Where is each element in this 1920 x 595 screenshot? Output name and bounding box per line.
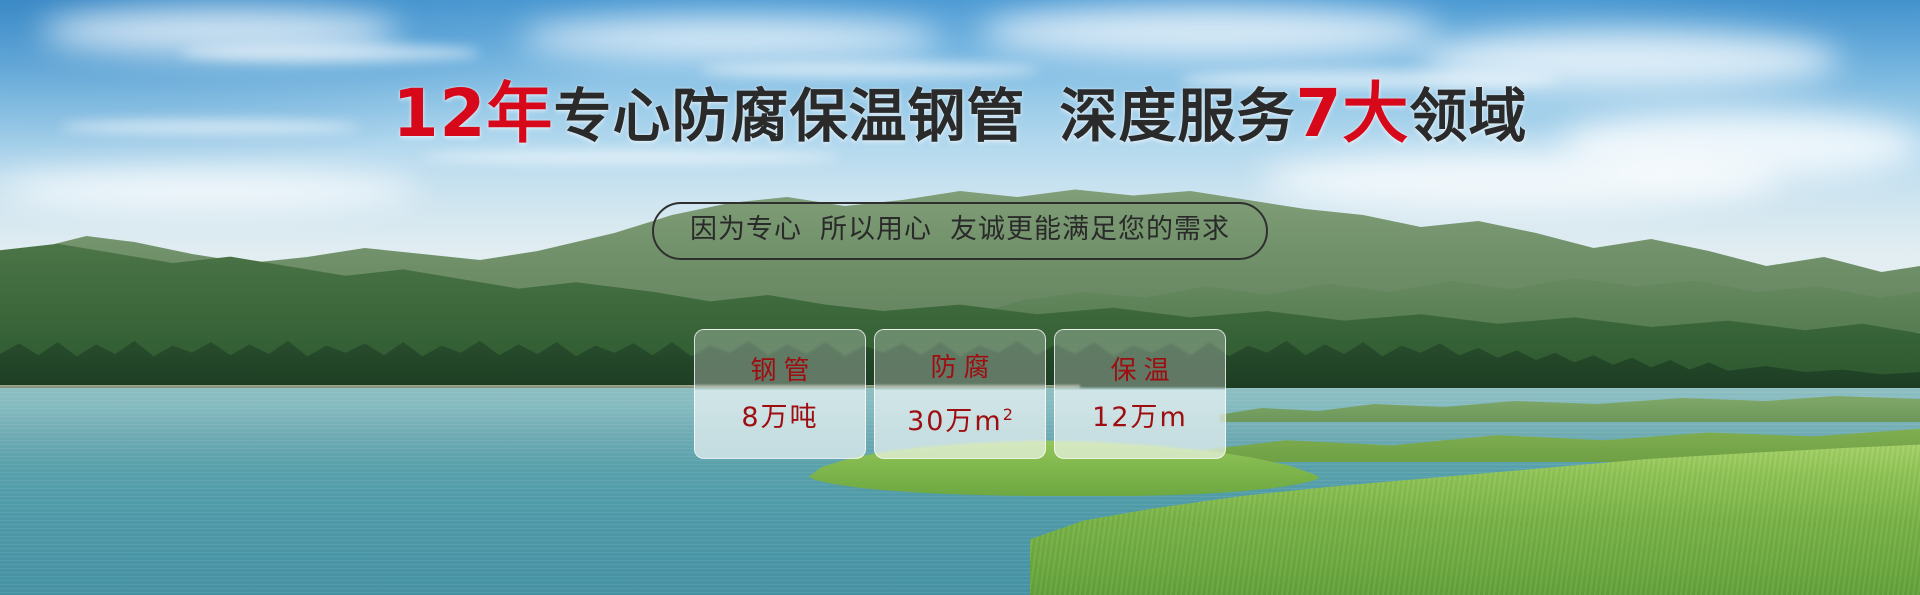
stat-card-value-main: 30万m	[907, 406, 1003, 437]
cloud-5	[980, 6, 1440, 58]
banner-headline: 12年专心防腐保温钢管深度服务7大领域	[0, 82, 1920, 148]
stat-card-label: 防腐	[923, 351, 996, 385]
stat-card-value-superscript: 2	[1003, 405, 1013, 424]
stat-card-group: 钢管 8万吨 防腐 30万m2 保温 12万m	[694, 329, 1226, 459]
stat-card-anticorrosion[interactable]: 防腐 30万m2	[874, 329, 1046, 459]
cloud-11	[420, 150, 840, 164]
cloud-12	[0, 170, 420, 210]
subtitle-segment-2: 所以用心	[820, 214, 932, 245]
subtitle-segment-1: 因为专心	[690, 214, 802, 245]
headline-segment-2: 深度服务	[1059, 82, 1295, 150]
stat-card-steel-pipe[interactable]: 钢管 8万吨	[694, 329, 866, 459]
promo-banner: 12年专心防腐保温钢管深度服务7大领域 因为专心所以用心友诚更能满足您的需求 钢…	[0, 0, 1920, 595]
cloud-7	[1420, 30, 1840, 90]
cloud-3	[520, 18, 940, 58]
headline-years: 12年	[393, 75, 554, 152]
stat-card-value-main: 8万吨	[741, 402, 818, 433]
headline-segment-3: 领域	[1409, 82, 1527, 150]
stat-card-value: 12万m	[1092, 402, 1188, 434]
headline-fields-count: 7大	[1295, 75, 1409, 152]
cloud-4	[700, 62, 1040, 78]
cloud-2	[180, 44, 480, 62]
stat-card-label: 钢管	[743, 354, 816, 388]
banner-subtitle-pill: 因为专心所以用心友诚更能满足您的需求	[652, 202, 1268, 260]
stat-card-value-main: 12万m	[1092, 402, 1188, 433]
stat-card-value: 8万吨	[741, 402, 818, 434]
cloud-10	[1260, 150, 1780, 210]
subtitle-segment-3: 友诚更能满足您的需求	[950, 214, 1230, 245]
stat-card-value: 30万m2	[907, 399, 1013, 438]
stat-card-insulation[interactable]: 保温 12万m	[1054, 329, 1226, 459]
stat-card-label: 保温	[1103, 354, 1176, 388]
headline-segment-1: 专心防腐保温钢管	[553, 82, 1025, 150]
